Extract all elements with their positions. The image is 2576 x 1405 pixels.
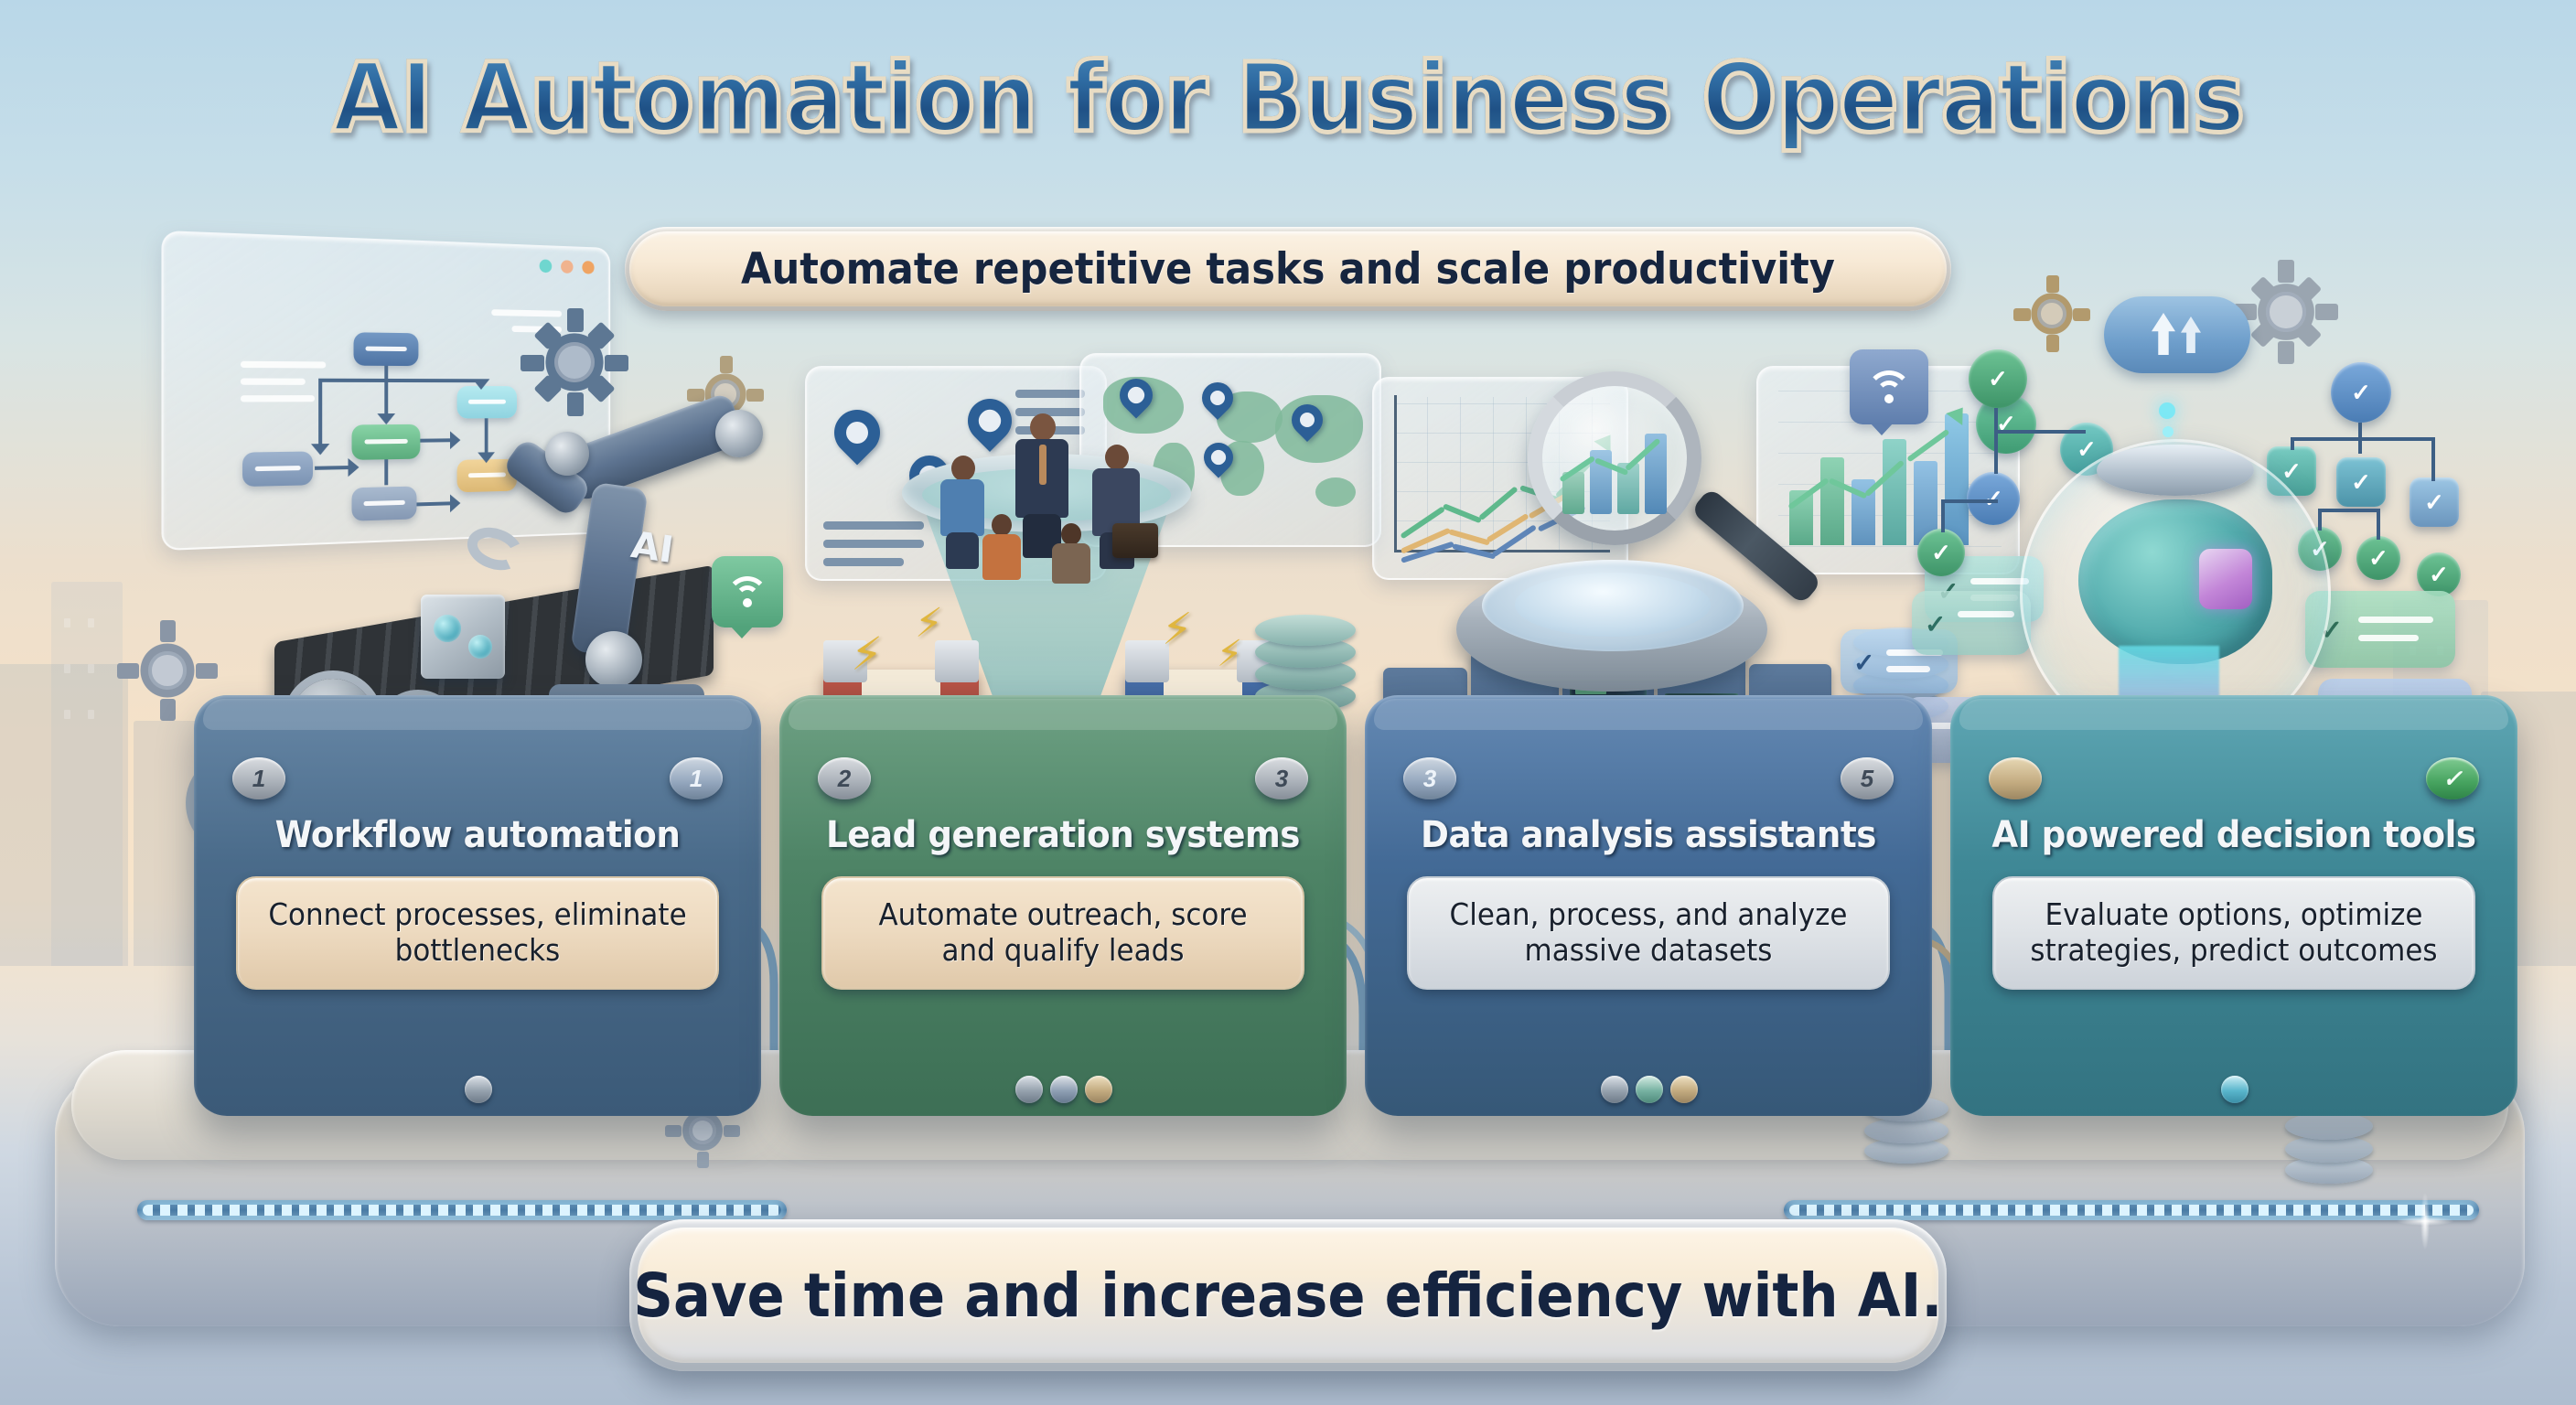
flow-node xyxy=(457,386,517,418)
card-plaque: Clean, process, and analyze massive data… xyxy=(1407,876,1890,990)
check-icon: ✓ xyxy=(1925,609,1946,639)
magnifier-icon xyxy=(1528,371,1701,545)
card-badge-right: ✓ xyxy=(2426,757,2479,799)
flow-node xyxy=(352,487,417,521)
check-icon: ✓ xyxy=(1917,529,1965,576)
page-subtitle: Automate repetitive tasks and scale prod… xyxy=(741,244,1835,295)
server-turret-lens xyxy=(1515,573,1711,637)
card-title: AI powered decision tools xyxy=(1970,814,2498,856)
card-knob[interactable] xyxy=(1085,1076,1112,1103)
card-knob[interactable] xyxy=(1670,1076,1698,1103)
check-icon: ✓ xyxy=(1969,349,2027,408)
database-stack-icon xyxy=(2285,1112,2373,1187)
flow-node xyxy=(242,451,313,487)
check-icon: ✓ xyxy=(1853,648,1874,678)
briefcase-icon xyxy=(1112,523,1158,558)
card-plaque: Connect processes, eliminate bottlenecks xyxy=(236,876,719,990)
footer-banner: Save time and increase efficiency with A… xyxy=(629,1219,1947,1371)
skyline-building xyxy=(51,582,123,966)
footer-tagline: Save time and increase efficiency with A… xyxy=(633,1260,1942,1331)
check-icon: ✓ xyxy=(2356,536,2400,580)
gear-icon xyxy=(2245,271,2327,353)
infographic-canvas: AI Automation for Business Operations Au… xyxy=(0,0,2576,1405)
card-description: Connect processes, eliminate bottlenecks xyxy=(268,897,688,969)
brain-chip xyxy=(2199,549,2252,609)
data-droplet xyxy=(2159,402,2175,419)
subtitle-plaque-inner: Automate repetitive tasks and scale prod… xyxy=(629,231,1947,306)
title-block: AI Automation for Business Operations xyxy=(0,42,2576,154)
card-badge-left: 3 xyxy=(1403,757,1456,799)
card-knob[interactable] xyxy=(1601,1076,1628,1103)
gear-icon xyxy=(128,631,207,710)
page-title: AI Automation for Business Operations xyxy=(332,42,2244,154)
card-knob[interactable] xyxy=(1636,1076,1663,1103)
card-plaque: Automate outreach, score and qualify lea… xyxy=(821,876,1304,990)
robot-arm-joint xyxy=(545,432,589,476)
card-lead-generation[interactable]: 2 3 Lead generation systems Automate out… xyxy=(779,695,1347,1116)
card-badge-right: 1 xyxy=(670,757,723,799)
card-title: Data analysis assistants xyxy=(1385,814,1913,856)
person-figure xyxy=(981,514,1023,580)
robot-arm-joint xyxy=(715,410,763,457)
card-data-analysis[interactable]: 3 5 Data analysis assistants Clean, proc… xyxy=(1365,695,1932,1116)
card-knob[interactable] xyxy=(465,1076,492,1103)
card-knob[interactable] xyxy=(2221,1076,2249,1103)
card-decision-tools[interactable]: ✓ AI powered decision tools Evaluate opt… xyxy=(1950,695,2517,1116)
product-cube xyxy=(421,595,505,679)
chat-bubble-icon: ✓ xyxy=(1912,591,2031,655)
card-badge-left xyxy=(1989,757,2042,799)
robot-arm-joint xyxy=(585,631,642,688)
check-icon: ✓ xyxy=(2331,362,2391,423)
card-lip xyxy=(1959,699,2508,730)
card-title: Lead generation systems xyxy=(800,814,1327,856)
card-badge-left: 2 xyxy=(818,757,871,799)
wifi-icon xyxy=(1850,349,1928,424)
card-lip xyxy=(1374,699,1923,730)
cloud-upload-icon xyxy=(2104,296,2250,373)
lightning-bolt-icon: ⚡ xyxy=(1162,604,1193,655)
card-badge-right: 5 xyxy=(1841,757,1894,799)
card-badge-right: 3 xyxy=(1255,757,1308,799)
card-description: Automate outreach, score and qualify lea… xyxy=(853,897,1273,969)
sphere-cap xyxy=(2097,445,2254,496)
window-dots xyxy=(540,259,595,273)
card-lip xyxy=(203,699,752,730)
led-strip-left xyxy=(137,1200,787,1220)
lightning-bolt-icon: ⚡ xyxy=(1217,633,1242,675)
footer-banner-inner: Save time and increase efficiency with A… xyxy=(638,1228,1938,1363)
data-droplet xyxy=(2163,426,2173,437)
led-strip-right xyxy=(1784,1200,2479,1220)
card-description: Clean, process, and analyze massive data… xyxy=(1439,897,1859,969)
lightning-bolt-icon: ⚡ xyxy=(851,627,883,681)
check-icon: ✓ xyxy=(2417,552,2461,596)
card-plaque: Evaluate options, optimize strategies, p… xyxy=(1992,876,2475,990)
flow-node-root xyxy=(354,332,419,366)
check-icon: ✓ xyxy=(1967,472,2020,525)
subtitle-plaque: Automate repetitive tasks and scale prod… xyxy=(625,227,1951,311)
check-icon: ✓ xyxy=(2410,477,2459,527)
card-knob[interactable] xyxy=(1015,1076,1043,1103)
gear-icon xyxy=(2022,284,2082,344)
card-knob[interactable] xyxy=(1050,1076,1078,1103)
card-badge-left: 1 xyxy=(232,757,285,799)
check-icon: ✓ xyxy=(2336,457,2386,507)
lightning-bolt-icon: ⚡ xyxy=(915,600,943,647)
card-lip xyxy=(789,699,1337,730)
card-workflow-automation[interactable]: 1 1 Workflow automation Connect processe… xyxy=(194,695,761,1116)
person-figure xyxy=(1050,523,1092,584)
gear-icon xyxy=(532,320,617,404)
map-pin-icon xyxy=(825,401,890,466)
card-title: Workflow automation xyxy=(214,814,742,856)
sparkle-icon xyxy=(2384,1180,2466,1262)
card-description: Evaluate options, optimize strategies, p… xyxy=(2024,897,2444,969)
flow-node xyxy=(352,424,421,460)
robot-arm-label-upper: AI xyxy=(628,524,676,572)
